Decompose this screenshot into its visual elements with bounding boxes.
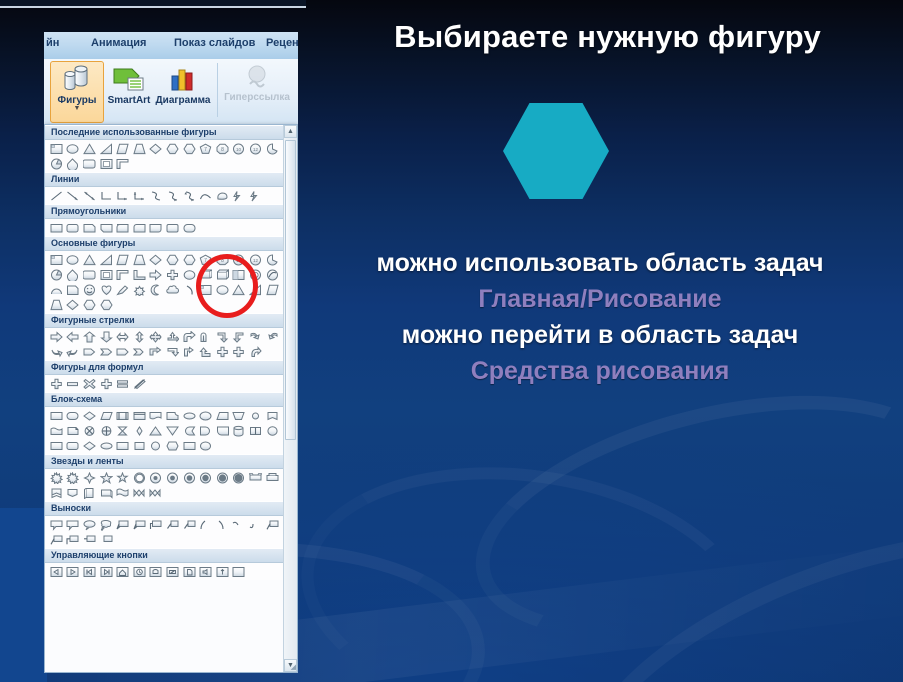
shape-gallery-item[interactable] (98, 329, 115, 344)
shape-gallery-item[interactable] (197, 267, 214, 282)
shape-gallery-item[interactable]: 12 (247, 252, 264, 267)
shape-gallery-item[interactable] (48, 329, 65, 344)
shape-gallery-item[interactable] (131, 438, 148, 453)
resize-grip-icon[interactable]: ◢ (291, 663, 296, 671)
shape-gallery-item[interactable] (231, 408, 248, 423)
shape-gallery-item[interactable] (264, 470, 281, 485)
shape-gallery-item[interactable] (65, 297, 82, 312)
shape-gallery-item[interactable] (197, 423, 214, 438)
shape-gallery-item[interactable] (65, 141, 82, 156)
ribbon-button-smartart-label: SmartArt (104, 95, 154, 106)
shape-gallery-item[interactable]: 10 (231, 252, 248, 267)
shape-gallery-item[interactable] (98, 297, 115, 312)
shape-gallery-item[interactable] (131, 470, 148, 485)
shape-gallery-item[interactable] (148, 329, 165, 344)
shape-gallery-item[interactable] (65, 156, 82, 171)
shape-gallery-item[interactable] (65, 329, 82, 344)
gallery-section-grid[interactable] (45, 516, 283, 548)
shape-gallery-item[interactable] (231, 470, 248, 485)
body-line-1: можно использовать область задач (300, 245, 900, 281)
shape-gallery-item[interactable] (48, 408, 65, 423)
shape-gallery-item[interactable] (148, 252, 165, 267)
shape-gallery-item[interactable] (114, 485, 131, 500)
shape-gallery-item[interactable] (264, 141, 281, 156)
shape-gallery-item[interactable] (197, 517, 214, 532)
shape-gallery-item[interactable] (48, 423, 65, 438)
shape-gallery-item[interactable] (181, 517, 198, 532)
shape-gallery-item[interactable] (81, 282, 98, 297)
shape-gallery-item[interactable] (148, 423, 165, 438)
shape-gallery-item[interactable] (164, 517, 181, 532)
gallery-section-header: Управляющие кнопки (45, 548, 283, 563)
shape-gallery-item[interactable] (181, 220, 198, 235)
shape-gallery-item[interactable] (181, 267, 198, 282)
shape-gallery-item[interactable] (264, 267, 281, 282)
shape-gallery-item[interactable] (231, 282, 248, 297)
shape-gallery-item[interactable] (114, 252, 131, 267)
shape-gallery-item[interactable] (81, 252, 98, 267)
shape-gallery-item[interactable] (231, 344, 248, 359)
shape-gallery-item[interactable] (81, 188, 98, 203)
shape-gallery-item[interactable] (181, 470, 198, 485)
shape-gallery-item[interactable] (214, 282, 231, 297)
shape-gallery-item[interactable] (197, 282, 214, 297)
shape-gallery-item[interactable] (197, 188, 214, 203)
shape-gallery-item[interactable] (181, 438, 198, 453)
shape-gallery-item[interactable] (148, 188, 165, 203)
shape-gallery-item[interactable] (114, 423, 131, 438)
shape-gallery-item[interactable] (114, 329, 131, 344)
shape-gallery-item[interactable] (131, 220, 148, 235)
svg-text:12: 12 (253, 147, 259, 152)
shape-gallery-item[interactable] (65, 485, 82, 500)
ribbon-button-hyperlink[interactable]: Гиперссылка (224, 61, 290, 119)
shape-gallery-item[interactable] (264, 517, 281, 532)
shape-gallery-item[interactable] (231, 564, 248, 579)
shape-gallery-item[interactable] (114, 282, 131, 297)
gallery-section-header: Звезды и ленты (45, 454, 283, 469)
shape-gallery-item[interactable] (81, 297, 98, 312)
shape-gallery-item[interactable] (131, 485, 148, 500)
svg-text:7: 7 (204, 258, 207, 264)
shape-gallery-item[interactable] (65, 438, 82, 453)
shape-gallery-item[interactable] (148, 408, 165, 423)
shape-gallery-item[interactable] (197, 329, 214, 344)
shape-gallery-item[interactable] (131, 408, 148, 423)
shape-gallery-item[interactable] (197, 438, 214, 453)
shape-gallery-item[interactable] (48, 517, 65, 532)
shape-gallery-item[interactable] (164, 408, 181, 423)
shape-gallery-item[interactable] (98, 438, 115, 453)
ribbon-tab-slideshow[interactable]: Показ слайдов (174, 37, 255, 49)
ribbon-separator (217, 63, 218, 117)
gallery-section-grid[interactable] (45, 328, 283, 360)
gallery-section-header: Последние использованные фигуры (45, 125, 283, 140)
shape-gallery-item[interactable] (131, 267, 148, 282)
body-line-3: можно перейти в область задач (300, 317, 900, 353)
body-text-block: можно использовать область задач Главная… (300, 245, 900, 389)
shape-gallery-item[interactable] (164, 423, 181, 438)
shape-gallery-item[interactable] (164, 470, 181, 485)
shape-gallery-item[interactable] (197, 344, 214, 359)
shape-gallery-item[interactable] (231, 267, 248, 282)
shape-gallery-item[interactable] (231, 423, 248, 438)
shape-gallery-item[interactable] (164, 220, 181, 235)
ribbon-button-smartart[interactable]: SmartArt (104, 61, 154, 119)
shape-gallery-item[interactable] (181, 408, 198, 423)
shape-gallery-item[interactable] (98, 376, 115, 391)
shape-gallery-item[interactable] (148, 220, 165, 235)
shape-gallery-item[interactable] (81, 376, 98, 391)
shape-gallery-item[interactable] (48, 141, 65, 156)
ribbon-tab-strip: йн Анимация Показ слайдов Рецен (44, 32, 298, 60)
shape-gallery-item[interactable] (65, 564, 82, 579)
shape-gallery-item[interactable] (98, 532, 115, 547)
shape-gallery-item[interactable] (247, 188, 264, 203)
ribbon-button-hyperlink-label: Гиперссылка (224, 92, 290, 103)
shape-gallery-item[interactable] (48, 485, 65, 500)
ribbon-button-chart-label: Диаграмма (154, 95, 212, 106)
shape-gallery-item[interactable] (131, 329, 148, 344)
gallery-section-grid[interactable] (45, 469, 283, 501)
scroll-up-arrow-icon[interactable]: ▲ (284, 125, 297, 138)
gallery-section-header: Фигуры для формул (45, 360, 283, 375)
shape-gallery-item[interactable] (247, 408, 264, 423)
shape-gallery-item[interactable] (164, 564, 181, 579)
shape-gallery-item[interactable] (48, 156, 65, 171)
shape-gallery-item[interactable] (164, 329, 181, 344)
shape-gallery-item[interactable] (247, 267, 264, 282)
shape-gallery-item[interactable] (264, 408, 281, 423)
shape-gallery-item[interactable] (148, 438, 165, 453)
shape-gallery-item[interactable] (197, 408, 214, 423)
gallery-section-header: Фигурные стрелки (45, 313, 283, 328)
shape-gallery-item[interactable] (131, 376, 148, 391)
shape-gallery-item[interactable] (181, 564, 198, 579)
shape-gallery-item[interactable] (164, 252, 181, 267)
shape-gallery-item[interactable] (81, 470, 98, 485)
scrollbar-thumb[interactable] (285, 140, 296, 440)
ribbon-tab-review[interactable]: Рецен (266, 37, 298, 49)
shape-gallery-item[interactable] (148, 485, 165, 500)
gallery-scrollbar[interactable]: ▲ ▼ (283, 125, 297, 672)
shape-gallery-item[interactable] (65, 532, 82, 547)
shape-gallery-item[interactable] (65, 267, 82, 282)
gallery-section-grid[interactable] (45, 563, 283, 580)
svg-text:10: 10 (236, 147, 242, 152)
shape-gallery-item[interactable] (264, 329, 281, 344)
shape-gallery-item[interactable] (98, 156, 115, 171)
shape-gallery-item[interactable] (114, 220, 131, 235)
shape-gallery-item[interactable] (114, 344, 131, 359)
hyperlink-icon (242, 65, 272, 91)
shape-gallery-item[interactable] (81, 532, 98, 547)
shape-gallery-item[interactable] (247, 517, 264, 532)
shape-gallery-item[interactable] (131, 282, 148, 297)
shape-gallery-item[interactable] (247, 470, 264, 485)
gallery-section-grid[interactable]: 781012 (45, 251, 283, 313)
shape-gallery-item[interactable] (81, 408, 98, 423)
shape-gallery-item[interactable] (48, 532, 65, 547)
shape-gallery-item[interactable] (81, 344, 98, 359)
shape-gallery-item[interactable] (181, 252, 198, 267)
shape-gallery-item[interactable] (48, 470, 65, 485)
left-edge-strip (0, 508, 47, 682)
shape-gallery-item[interactable] (131, 517, 148, 532)
shape-gallery-item[interactable] (148, 470, 165, 485)
shape-gallery-item[interactable] (65, 252, 82, 267)
shape-gallery-item[interactable]: 10 (231, 141, 248, 156)
shape-gallery-item[interactable] (81, 156, 98, 171)
gallery-section-grid[interactable] (45, 187, 283, 204)
shape-gallery-item[interactable] (48, 438, 65, 453)
shape-gallery-dropdown: Последние использованные фигуры781012Лин… (44, 124, 298, 673)
shape-gallery-item[interactable] (65, 376, 82, 391)
shape-gallery-item[interactable] (131, 344, 148, 359)
top-light-rule (0, 6, 306, 8)
ribbon-button-chart[interactable]: Диаграмма (154, 61, 212, 119)
powerpoint-window-screenshot: йн Анимация Показ слайдов Рецен (44, 32, 298, 673)
shape-gallery-item[interactable] (81, 485, 98, 500)
shape-gallery-item[interactable] (81, 141, 98, 156)
shape-gallery-item[interactable] (164, 188, 181, 203)
hexagon-shape (503, 103, 609, 199)
shape-gallery-item[interactable] (98, 408, 115, 423)
shape-gallery-item[interactable] (65, 470, 82, 485)
shape-gallery-item[interactable] (98, 423, 115, 438)
gallery-section-grid[interactable] (45, 219, 283, 236)
shape-gallery-item[interactable] (148, 141, 165, 156)
shape-gallery-item[interactable] (48, 376, 65, 391)
gallery-section-header: Блок-схема (45, 392, 283, 407)
shape-gallery-item[interactable] (214, 344, 231, 359)
shape-gallery-item[interactable] (48, 220, 65, 235)
shape-gallery-item[interactable] (98, 141, 115, 156)
body-line-2: Главная/Рисование (300, 281, 900, 317)
shape-gallery-item[interactable] (247, 329, 264, 344)
background-swirl (531, 467, 903, 682)
shape-gallery-item[interactable] (164, 141, 181, 156)
shape-gallery-item[interactable] (81, 438, 98, 453)
shape-gallery-item[interactable] (231, 188, 248, 203)
shape-gallery-item[interactable] (181, 423, 198, 438)
shape-gallery-item[interactable] (81, 329, 98, 344)
shape-gallery-item[interactable] (181, 282, 198, 297)
svg-text:8: 8 (221, 147, 224, 153)
smartart-icon (112, 66, 146, 94)
shape-gallery-item[interactable] (264, 282, 281, 297)
shape-gallery-item[interactable] (81, 517, 98, 532)
shape-gallery-item[interactable] (131, 564, 148, 579)
shape-gallery-item[interactable] (131, 141, 148, 156)
shape-gallery-item[interactable] (164, 344, 181, 359)
gallery-section-header: Прямоугольники (45, 204, 283, 219)
shape-gallery-item[interactable] (81, 564, 98, 579)
shape-gallery-item[interactable] (98, 470, 115, 485)
shape-gallery-item[interactable] (65, 282, 82, 297)
page-title: Выбираете нужную фигуру (320, 20, 895, 54)
shape-gallery-item[interactable] (48, 564, 65, 579)
shape-gallery-item[interactable] (231, 329, 248, 344)
shape-gallery-item[interactable] (98, 267, 115, 282)
ribbon-tab-animation[interactable]: Анимация (91, 37, 146, 49)
shape-gallery-item[interactable] (48, 188, 65, 203)
shape-gallery-item[interactable] (114, 188, 131, 203)
shape-gallery-item[interactable] (247, 282, 264, 297)
shape-gallery-item[interactable] (214, 408, 231, 423)
shape-gallery-item[interactable] (114, 438, 131, 453)
shape-gallery-item[interactable] (181, 329, 198, 344)
shape-gallery-item[interactable] (214, 188, 231, 203)
shape-gallery-item[interactable] (98, 220, 115, 235)
shape-gallery-item[interactable] (48, 267, 65, 282)
shape-gallery-item[interactable] (114, 141, 131, 156)
gallery-section-grid[interactable] (45, 375, 283, 392)
shape-gallery-item[interactable] (114, 517, 131, 532)
shape-gallery-item[interactable] (214, 329, 231, 344)
shape-gallery-item[interactable] (114, 267, 131, 282)
gallery-section-header: Основные фигуры (45, 236, 283, 251)
shape-gallery-item[interactable] (214, 423, 231, 438)
svg-text:7: 7 (204, 147, 207, 153)
svg-text:10: 10 (236, 258, 242, 263)
shape-gallery-item[interactable] (65, 408, 82, 423)
ribbon-tab-design[interactable]: йн (46, 37, 59, 49)
shape-gallery-item[interactable] (48, 297, 65, 312)
shape-gallery-item[interactable] (81, 220, 98, 235)
shape-gallery-item[interactable]: 12 (247, 141, 264, 156)
shape-gallery-list[interactable]: Последние использованные фигуры781012Лин… (45, 125, 283, 672)
shape-gallery-item[interactable] (131, 188, 148, 203)
gallery-section-grid[interactable]: 781012 (45, 140, 283, 172)
shape-gallery-item[interactable] (131, 423, 148, 438)
shape-gallery-item[interactable] (98, 485, 115, 500)
shape-gallery-item[interactable] (131, 252, 148, 267)
shape-gallery-item[interactable] (181, 344, 198, 359)
shape-gallery-item[interactable]: 7 (197, 252, 214, 267)
background-swirl (451, 352, 903, 682)
shape-gallery-item[interactable] (264, 423, 281, 438)
shape-gallery-item[interactable] (98, 517, 115, 532)
shape-gallery-item[interactable] (148, 564, 165, 579)
gallery-section-grid[interactable] (45, 407, 283, 454)
shape-gallery-item[interactable] (65, 220, 82, 235)
shape-gallery-item[interactable] (98, 564, 115, 579)
shape-gallery-item[interactable] (65, 423, 82, 438)
shape-gallery-item[interactable] (247, 423, 264, 438)
gallery-section-header: Линии (45, 172, 283, 187)
shape-gallery-item[interactable] (48, 282, 65, 297)
shape-gallery-item[interactable] (114, 470, 131, 485)
chart-icon (170, 66, 196, 94)
shape-gallery-item[interactable] (98, 344, 115, 359)
shape-gallery-item[interactable] (114, 564, 131, 579)
shape-gallery-item[interactable] (214, 564, 231, 579)
shape-gallery-item[interactable] (164, 267, 181, 282)
shape-gallery-item[interactable] (81, 423, 98, 438)
shape-gallery-item[interactable] (197, 564, 214, 579)
shape-gallery-item[interactable] (65, 344, 82, 359)
shape-gallery-item[interactable] (148, 344, 165, 359)
shape-gallery-item[interactable] (81, 267, 98, 282)
shape-gallery-item[interactable] (181, 188, 198, 203)
shape-gallery-item[interactable] (114, 408, 131, 423)
shape-gallery-item[interactable] (114, 156, 131, 171)
shape-gallery-item[interactable] (214, 267, 231, 282)
shape-gallery-item[interactable] (148, 282, 165, 297)
shape-gallery-item[interactable] (247, 344, 264, 359)
gallery-section-header: Выноски (45, 501, 283, 516)
svg-text:12: 12 (253, 258, 259, 263)
shape-gallery-item[interactable]: 7 (197, 141, 214, 156)
background-swirl (285, 440, 770, 682)
shape-gallery-item[interactable] (65, 517, 82, 532)
shape-gallery-item[interactable] (65, 188, 82, 203)
shape-gallery-item[interactable] (148, 267, 165, 282)
shape-gallery-item[interactable] (148, 517, 165, 532)
shape-gallery-item[interactable] (48, 252, 65, 267)
shape-gallery-item[interactable]: 8 (214, 141, 231, 156)
shape-gallery-item[interactable] (98, 252, 115, 267)
shapes-icon (61, 65, 93, 95)
shape-gallery-item[interactable] (98, 282, 115, 297)
shape-gallery-item[interactable] (231, 517, 248, 532)
shape-gallery-item[interactable] (164, 282, 181, 297)
chevron-down-icon[interactable]: ▼ (51, 106, 103, 111)
svg-text:8: 8 (221, 258, 224, 264)
body-line-4: Средства рисования (300, 353, 900, 389)
ribbon-button-shapes[interactable]: Фигуры ▼ (50, 61, 104, 123)
shape-gallery-item[interactable] (164, 438, 181, 453)
ribbon-body: Фигуры ▼ SmartArt Диаг (44, 59, 298, 125)
shape-gallery-item[interactable] (48, 344, 65, 359)
shape-gallery-item[interactable] (98, 188, 115, 203)
shape-gallery-item[interactable] (197, 470, 214, 485)
shape-gallery-item[interactable]: 8 (214, 252, 231, 267)
slide-canvas: Выбираете нужную фигуру можно использова… (0, 0, 903, 682)
shape-gallery-item[interactable] (214, 470, 231, 485)
shape-gallery-item[interactable] (114, 376, 131, 391)
shape-gallery-item[interactable] (264, 252, 281, 267)
shape-gallery-item[interactable] (214, 517, 231, 532)
shape-gallery-item[interactable] (181, 141, 198, 156)
